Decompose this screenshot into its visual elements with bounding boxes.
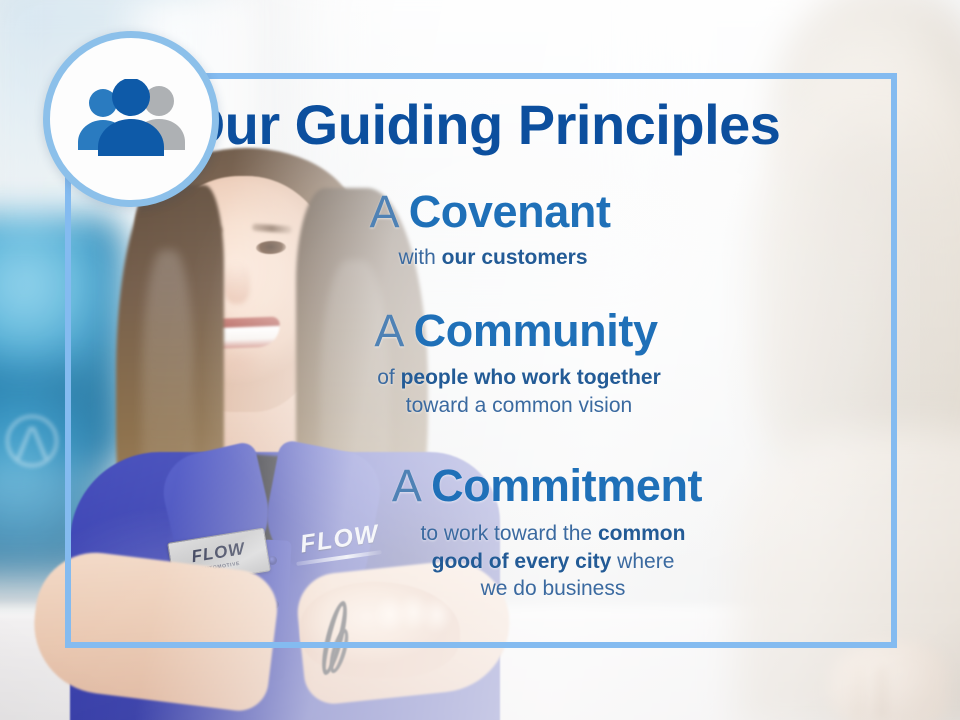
principle-detail: to work toward the common good of every … (65, 520, 897, 603)
principle-detail-line: we do business (209, 575, 897, 603)
principle-detail-line: good of every city where (209, 548, 897, 576)
detail-span: of (377, 366, 400, 389)
principle-keyword: Commitment (431, 460, 702, 511)
principle-detail: of people who work together toward a com… (65, 364, 897, 419)
principle-detail-line: with our customers (89, 244, 897, 272)
principle-block-covenant: A Covenant with our customers (65, 189, 897, 272)
principle-keyword: Covenant (409, 186, 611, 237)
principle-block-commitment: A Commitment to work toward the common g… (65, 463, 897, 603)
principle-headline: A Commitment (65, 463, 897, 509)
detail-span: to work toward the (421, 522, 598, 545)
people-group-icon (72, 79, 190, 159)
detail-span: toward a common vision (406, 394, 632, 417)
detail-span: good of every city (432, 550, 612, 573)
principle-article: A (374, 305, 401, 356)
principle-article: A (392, 460, 419, 511)
detail-span: our customers (442, 246, 588, 269)
people-group-badge (43, 31, 219, 207)
principle-detail: with our customers (65, 244, 897, 272)
graphic-canvas: FLOW AUTOMOTIVE FLOW Our Guiding Princip… (0, 0, 960, 720)
detail-span: people who work together (401, 366, 661, 389)
principle-block-community: A Community of people who work together … (65, 308, 897, 419)
principle-article: A (369, 186, 396, 237)
principle-detail-line: to work toward the common (209, 520, 897, 548)
principle-headline: A Community (65, 308, 897, 354)
detail-span: common (598, 522, 686, 545)
principle-detail-line: of people who work together (141, 364, 897, 392)
detail-span: we do business (481, 577, 626, 600)
principle-headline: A Covenant (65, 189, 897, 235)
principle-detail-line: toward a common vision (141, 392, 897, 420)
detail-span: where (611, 550, 674, 573)
principle-keyword: Community (414, 305, 658, 356)
detail-span: with (398, 246, 441, 269)
